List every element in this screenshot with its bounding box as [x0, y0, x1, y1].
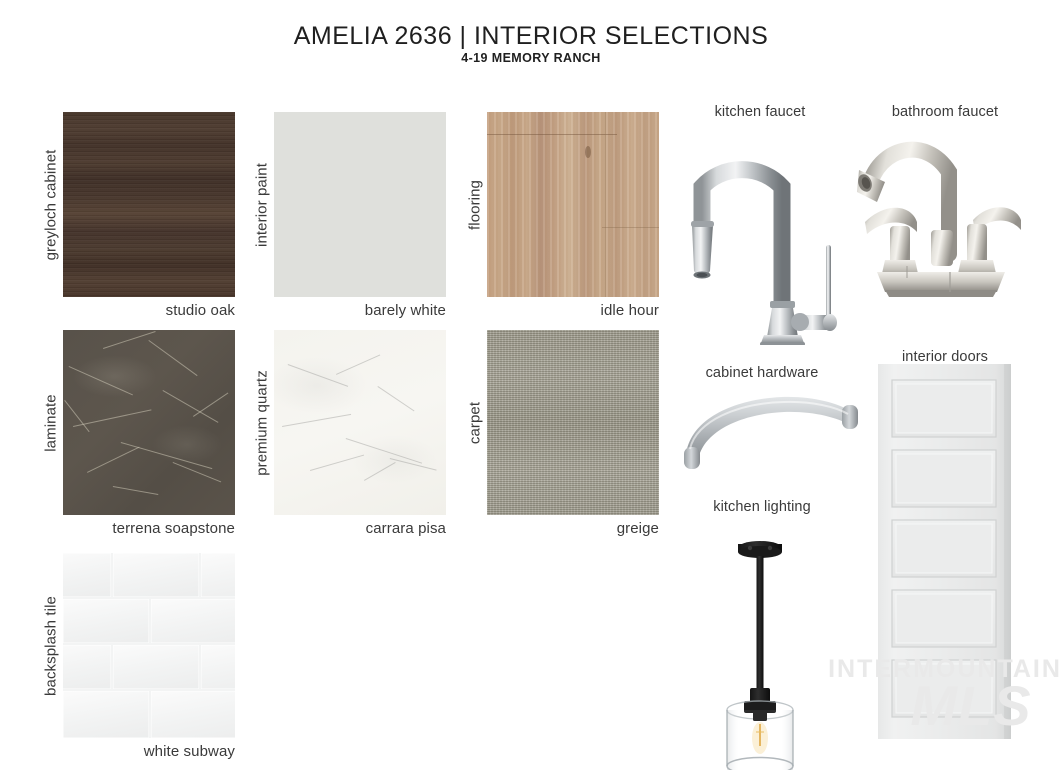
swatch-name-idle-hour: idle hour	[487, 302, 659, 319]
kitchen-faucet-icon[interactable]	[672, 125, 852, 345]
swatch-cell-laminate[interactable]: laminate terrena soapstone	[39, 330, 235, 545]
swatch-name-studio-oak: studio oak	[63, 302, 235, 319]
interior-selections-board: AMELIA 2636 | INTERIOR SELECTIONS 4-19 M…	[0, 0, 1062, 774]
fixture-label-bathroom-faucet: bathroom faucet	[855, 104, 1035, 120]
cabinet-pull-icon[interactable]	[672, 385, 862, 480]
swatch-cell-carpet[interactable]: carpet greige	[463, 330, 659, 545]
swatch-cell-backsplash-tile[interactable]: backsplash tile white subway	[39, 553, 235, 768]
swatch-category-label: greyloch cabinet	[43, 149, 60, 260]
swatch-category-label-wrap: carpet	[465, 330, 485, 515]
swatch-category-label-wrap: flooring	[465, 112, 485, 297]
plank-seam	[487, 134, 617, 135]
fixture-label-cabinet-hardware: cabinet hardware	[672, 365, 852, 381]
swatch-category-label: backsplash tile	[43, 596, 60, 696]
swatch-cell-flooring[interactable]: flooring idle hour	[463, 112, 659, 327]
swatch-cell-interior-paint[interactable]: interior paint barely white	[250, 112, 446, 327]
swatch-name-terrena-soapstone: terrena soapstone	[63, 520, 235, 537]
page-subtitle: 4-19 MEMORY RANCH	[0, 51, 1062, 65]
swatch-category-label: interior paint	[254, 163, 271, 247]
swatch-cell-greyloch-cabinet[interactable]: greyloch cabinet studio oak	[39, 112, 235, 327]
five-panel-door-icon[interactable]	[878, 364, 1011, 739]
fixture-label-interior-doors: interior doors	[855, 349, 1035, 365]
pendant-light-icon[interactable]	[700, 538, 820, 770]
swatch-white-subway[interactable]	[63, 553, 235, 738]
swatch-category-label-wrap: backsplash tile	[41, 553, 61, 738]
swatch-category-label: laminate	[43, 394, 60, 452]
swatch-name-carrara-pisa: carrara pisa	[274, 520, 446, 537]
swatch-category-label: carpet	[467, 401, 484, 443]
swatch-category-label: flooring	[467, 180, 484, 230]
swatch-name-barely-white: barely white	[274, 302, 446, 319]
wood-knot	[585, 146, 591, 158]
swatch-category-label-wrap: greyloch cabinet	[41, 112, 61, 297]
swatch-barely-white[interactable]	[274, 112, 446, 297]
swatch-greige[interactable]	[487, 330, 659, 515]
swatch-idle-hour[interactable]	[487, 112, 659, 297]
swatch-name-white-subway: white subway	[63, 743, 235, 760]
bathroom-faucet-icon[interactable]	[855, 126, 1040, 301]
swatch-category-label-wrap: laminate	[41, 330, 61, 515]
swatch-category-label-wrap: interior paint	[252, 112, 272, 297]
swatch-name-greige: greige	[487, 520, 659, 537]
plank-seam	[602, 227, 659, 228]
swatch-carrara-pisa[interactable]	[274, 330, 446, 515]
page-title: AMELIA 2636 | INTERIOR SELECTIONS	[0, 22, 1062, 51]
plank-seam	[605, 112, 606, 297]
swatch-category-label-wrap: premium quartz	[252, 330, 272, 515]
swatch-cell-premium-quartz[interactable]: premium quartz carrara pisa	[250, 330, 446, 545]
fixture-label-kitchen-lighting: kitchen lighting	[672, 499, 852, 515]
swatch-studio-oak[interactable]	[63, 112, 235, 297]
fixture-label-kitchen-faucet: kitchen faucet	[670, 104, 850, 120]
swatch-category-label: premium quartz	[254, 370, 271, 476]
swatch-terrena-soapstone[interactable]	[63, 330, 235, 515]
